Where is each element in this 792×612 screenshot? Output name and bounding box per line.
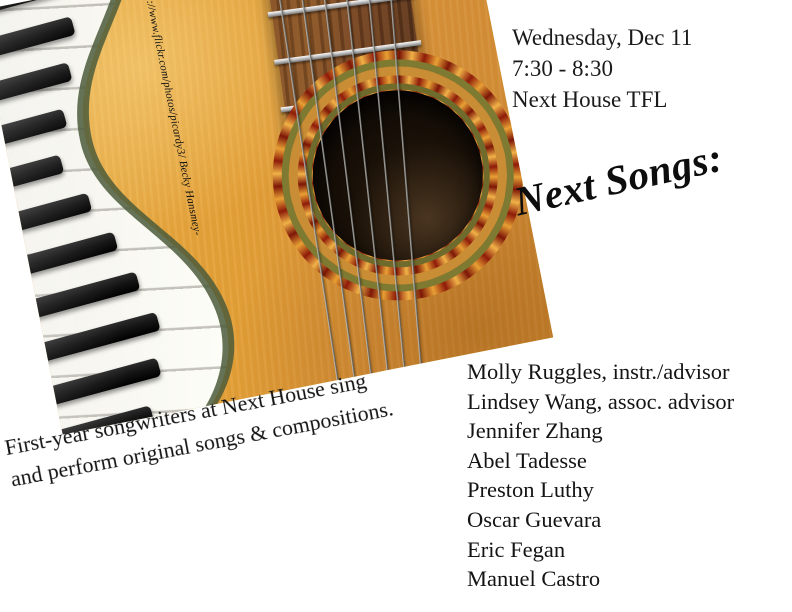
list-item: Abel Tadesse: [467, 446, 734, 476]
list-item: Preston Luthy: [467, 475, 734, 505]
poster-canvas: photo courtesy http://www.flickr.com/pho…: [0, 0, 792, 612]
list-item: Oscar Guevara: [467, 505, 734, 535]
performer-list: Molly Ruggles, instr./advisor Lindsey Wa…: [467, 357, 734, 594]
list-item: Lindsey Wang, assoc. advisor: [467, 387, 734, 417]
list-item: Molly Ruggles, instr./advisor: [467, 357, 734, 387]
list-item: Manuel Castro: [467, 564, 734, 594]
page-title: Next Songs:: [510, 133, 727, 226]
event-time: 7:30 - 8:30: [512, 53, 692, 84]
event-date: Wednesday, Dec 11: [512, 22, 692, 53]
event-location: Next House TFL: [512, 84, 692, 115]
list-item: Eric Fegan: [467, 535, 734, 565]
list-item: Jennifer Zhang: [467, 416, 734, 446]
event-details: Wednesday, Dec 11 7:30 - 8:30 Next House…: [512, 22, 692, 115]
